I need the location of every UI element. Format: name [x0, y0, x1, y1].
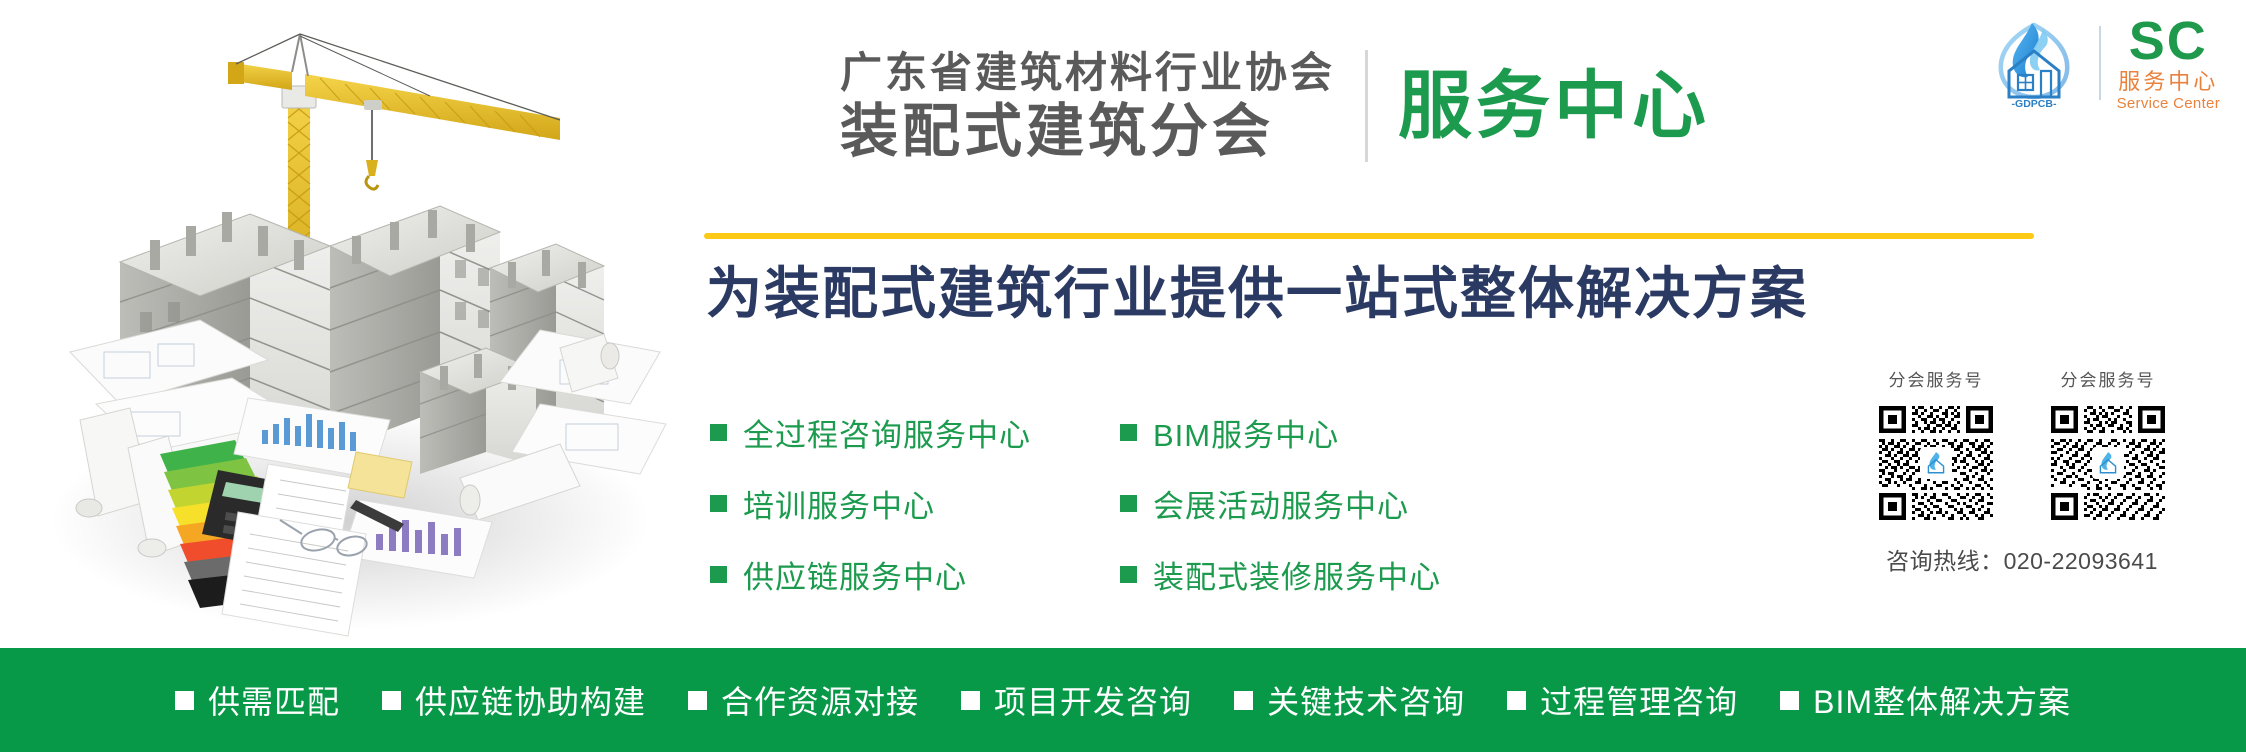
sc-letters: SC	[2129, 14, 2208, 68]
bullet-square-icon	[688, 691, 707, 710]
qr-caption: 分会服务号	[1889, 366, 1984, 391]
bullet-square-icon	[710, 495, 727, 512]
service-center-title: 服务中心	[1398, 69, 1710, 143]
bottom-bar-label: 过程管理咨询	[1540, 677, 1738, 723]
bottom-bar-label: 供需匹配	[208, 677, 340, 723]
bottom-bar-item[interactable]: 合作资源对接	[688, 677, 919, 723]
bottom-bar-item[interactable]: BIM整体解决方案	[1780, 677, 2071, 723]
gdpcb-logo-icon: -GDPCB-	[1985, 17, 2083, 109]
bullet-square-icon	[1120, 566, 1137, 583]
service-column-left: 全过程咨询服务中心 培训服务中心 供应链服务中心	[710, 410, 1120, 597]
service-item[interactable]: 供应链服务中心	[710, 552, 1120, 597]
hotline-text: 咨询热线：020-22093641	[1822, 542, 2222, 576]
bottom-bar-item[interactable]: 供需匹配	[175, 677, 340, 723]
bottom-bar-label: BIM整体解决方案	[1813, 677, 2071, 723]
sc-english-label: Service Center	[2117, 96, 2220, 111]
service-label: 会展活动服务中心	[1153, 481, 1409, 526]
bullet-square-icon	[382, 691, 401, 710]
qr-embedded-logo-icon	[1920, 447, 1952, 479]
qr-embedded-logo-icon	[2092, 447, 2124, 479]
service-label: 全过程咨询服务中心	[743, 410, 1031, 455]
qr-caption: 分会服务号	[2061, 366, 2156, 391]
bullet-square-icon	[1780, 691, 1799, 710]
service-label: 供应链服务中心	[743, 552, 967, 597]
title-separator	[1365, 50, 1368, 162]
bullet-square-icon	[175, 691, 194, 710]
bottom-bar-label: 供应链协助构建	[415, 677, 646, 723]
service-column-right: BIM服务中心 会展活动服务中心 装配式装修服务中心	[1120, 410, 1441, 597]
service-center-banner: -GDPCB- SC 服务中心 Service Center 广东省建筑材料行业…	[0, 0, 2246, 752]
bullet-square-icon	[1234, 691, 1253, 710]
logo-cluster: -GDPCB- SC 服务中心 Service Center	[1985, 14, 2220, 111]
qr-code-block: 分会服务号	[1822, 366, 2222, 576]
bullet-square-icon	[961, 691, 980, 710]
banner-content: -GDPCB- SC 服务中心 Service Center 广东省建筑材料行业…	[690, 0, 2246, 648]
bullet-square-icon	[1507, 691, 1526, 710]
bullet-square-icon	[1120, 424, 1137, 441]
org-name-line2: 装配式建筑分会	[840, 100, 1335, 165]
org-name-block: 广东省建筑材料行业协会 装配式建筑分会	[840, 48, 1335, 165]
bottom-bar-item[interactable]: 项目开发咨询	[961, 677, 1192, 723]
logo-divider	[2099, 26, 2101, 100]
tagline-headline: 为装配式建筑行业提供一站式整体解决方案	[706, 262, 1808, 326]
organization-title: 广东省建筑材料行业协会 装配式建筑分会 服务中心	[840, 48, 1710, 165]
bottom-bar-item[interactable]: 过程管理咨询	[1507, 677, 1738, 723]
bottom-bar-label: 项目开发咨询	[994, 677, 1192, 723]
service-label: BIM服务中心	[1153, 410, 1339, 455]
gold-divider-rule	[704, 233, 2034, 239]
qr-code-image[interactable]	[2045, 400, 2171, 526]
bottom-service-bar: 供需匹配 供应链协助构建 合作资源对接 项目开发咨询 关键技术咨询 过程管理咨询…	[0, 648, 2246, 752]
service-label: 装配式装修服务中心	[1153, 552, 1441, 597]
gdpcb-logo-text: -GDPCB-	[2011, 98, 2056, 109]
qr-code-item[interactable]: 分会服务号	[1873, 366, 1999, 526]
service-center-list: 全过程咨询服务中心 培训服务中心 供应链服务中心 BIM服务中心	[710, 410, 1441, 597]
service-item[interactable]: 装配式装修服务中心	[1120, 552, 1441, 597]
service-label: 培训服务中心	[743, 481, 935, 526]
sc-wordmark: SC 服务中心 Service Center	[2117, 14, 2220, 111]
org-name-line1: 广东省建筑材料行业协会	[840, 48, 1335, 98]
bottom-bar-item[interactable]: 供应链协助构建	[382, 677, 646, 723]
qr-code-image[interactable]	[1873, 400, 1999, 526]
hero-construction-image	[0, 0, 690, 648]
bottom-bar-label: 关键技术咨询	[1267, 677, 1465, 723]
bullet-square-icon	[710, 566, 727, 583]
service-item[interactable]: 全过程咨询服务中心	[710, 410, 1120, 455]
service-item[interactable]: 会展活动服务中心	[1120, 481, 1441, 526]
bullet-square-icon	[710, 424, 727, 441]
qr-code-item[interactable]: 分会服务号	[2045, 366, 2171, 526]
qr-code-row: 分会服务号	[1822, 366, 2222, 526]
service-item[interactable]: 培训服务中心	[710, 481, 1120, 526]
bottom-bar-label: 合作资源对接	[721, 677, 919, 723]
bottom-bar-item[interactable]: 关键技术咨询	[1234, 677, 1465, 723]
service-item[interactable]: BIM服务中心	[1120, 410, 1441, 455]
sc-chinese-label: 服务中心	[2118, 71, 2218, 93]
bullet-square-icon	[1120, 495, 1137, 512]
